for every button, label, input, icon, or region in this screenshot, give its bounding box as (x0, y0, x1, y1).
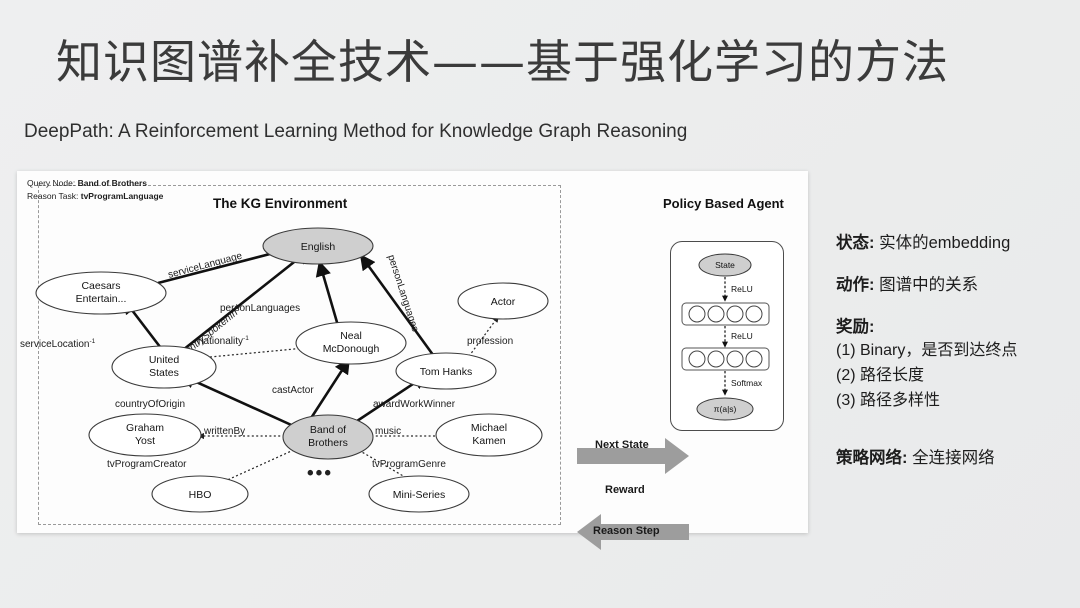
node-michael-kamen[interactable]: Michael Kamen (436, 414, 542, 456)
note-reward-item-2: (2) 路径长度 (836, 363, 1072, 388)
note-policy-network-key: 策略网络: (836, 449, 908, 467)
edge-label-written-by: writtenBy (203, 426, 245, 437)
svg-text:State: State (715, 260, 735, 270)
note-state: 状态: 实体的embedding (836, 232, 1072, 254)
edge-label-award-work-winner: awardWorkWinner (373, 399, 456, 410)
svg-text:Yost: Yost (135, 435, 155, 447)
svg-text:Graham: Graham (126, 422, 164, 434)
edge-label-person-languages-1: personLanguages (220, 303, 300, 314)
edge-label-nationality: nationality-1 (198, 335, 249, 347)
edge-label-country-of-origin: countryOfOrigin (115, 399, 185, 410)
note-action: 动作: 图谱中的关系 (836, 274, 1072, 296)
node-english[interactable]: English (263, 228, 373, 264)
node-neal-mcdonough[interactable]: Neal McDonough (296, 322, 406, 364)
node-hbo[interactable]: HBO (152, 476, 248, 512)
note-policy-network: 策略网络: 全连接网络 (836, 447, 1072, 469)
graph-ellipsis: ••• (307, 463, 333, 484)
hidden-layer-1 (682, 303, 769, 325)
svg-text:Actor: Actor (491, 296, 516, 308)
edge-label-tv-program-creator: tvProgramCreator (107, 459, 187, 470)
activation-softmax: Softmax (731, 378, 763, 388)
note-reward-key: 奖励: (836, 316, 1072, 338)
node-actor[interactable]: Actor (458, 283, 548, 319)
slide-canvas: 知识图谱补全技术——基于强化学习的方法 DeepPath: A Reinforc… (0, 0, 1080, 608)
svg-text:English: English (301, 241, 336, 253)
edge-country-of-origin (183, 376, 298, 428)
edge-nationality (210, 348, 305, 357)
node-united-states[interactable]: United States (112, 346, 216, 388)
note-policy-network-value: 全连接网络 (912, 449, 995, 467)
svg-text:personLanguages: personLanguages (385, 254, 420, 334)
svg-text:π(a|s): π(a|s) (714, 404, 737, 414)
edge-label-profession: profession (467, 336, 513, 347)
svg-text:Michael: Michael (471, 422, 507, 434)
note-state-value: 实体的embedding (879, 234, 1010, 252)
reward-label: Reward (605, 484, 645, 496)
edge-label-person-languages-2: personLanguages (385, 254, 420, 334)
svg-text:serviceLocation-1: serviceLocation-1 (20, 338, 96, 350)
svg-text:HBO: HBO (189, 489, 212, 501)
svg-text:Band of: Band of (310, 424, 346, 436)
note-state-key: 状态: (836, 234, 875, 252)
svg-text:McDonough: McDonough (323, 343, 380, 355)
edge-label-cast-actor: castActor (272, 385, 314, 396)
node-caesars[interactable]: Caesars Entertain... (36, 272, 166, 314)
note-action-key: 动作: (836, 276, 875, 294)
node-graham-yost[interactable]: Graham Yost (89, 414, 201, 456)
node-mini-series[interactable]: Mini-Series (369, 476, 469, 512)
node-tom-hanks[interactable]: Tom Hanks (396, 353, 496, 389)
edge-label-service-language: serviceLanguage (167, 250, 244, 280)
policy-agent-box: State ReLU ReLU Softmax (670, 241, 784, 431)
note-reward-item-3: (3) 路径多样性 (836, 388, 1072, 413)
edge-label-music: music (375, 426, 401, 437)
note-action-value: 图谱中的关系 (879, 276, 978, 294)
svg-text:Neal: Neal (340, 330, 362, 342)
reason-step-label: Reason Step (593, 525, 660, 537)
svg-text:States: States (149, 367, 179, 379)
svg-text:Tom Hanks: Tom Hanks (420, 366, 473, 378)
edge-label-tv-program-genre: tvProgramGenre (372, 459, 446, 470)
svg-text:nationality-1: nationality-1 (198, 335, 249, 347)
node-band-of-brothers[interactable]: Band of Brothers (283, 415, 373, 459)
policy-agent-title: Policy Based Agent (663, 196, 784, 211)
policy-network-diagram: State ReLU ReLU Softmax (671, 242, 783, 430)
agent-policy-output-node: π(a|s) (697, 398, 753, 420)
notes-column: 状态: 实体的embedding 动作: 图谱中的关系 奖励: (1) Bina… (836, 232, 1072, 469)
page-subtitle: DeepPath: A Reinforcement Learning Metho… (24, 118, 687, 146)
svg-text:Mini-Series: Mini-Series (393, 489, 446, 501)
activation-relu-1: ReLU (731, 284, 753, 294)
activation-relu-2: ReLU (731, 331, 753, 341)
agent-state-node: State (699, 254, 751, 276)
svg-text:serviceLanguage: serviceLanguage (167, 250, 244, 280)
svg-text:Caesars: Caesars (81, 280, 120, 292)
svg-text:United: United (149, 354, 180, 366)
edge-label-service-location: serviceLocation-1 (20, 338, 96, 350)
next-state-label: Next State (595, 439, 649, 451)
svg-text:Entertain...: Entertain... (76, 293, 127, 305)
hidden-layer-2 (682, 348, 769, 370)
svg-text:Brothers: Brothers (308, 437, 348, 449)
note-reward-item-1: (1) Binary，是否到达终点 (836, 338, 1072, 363)
svg-text:Kamen: Kamen (472, 435, 505, 447)
page-title: 知识图谱补全技术——基于强化学习的方法 (56, 32, 949, 92)
